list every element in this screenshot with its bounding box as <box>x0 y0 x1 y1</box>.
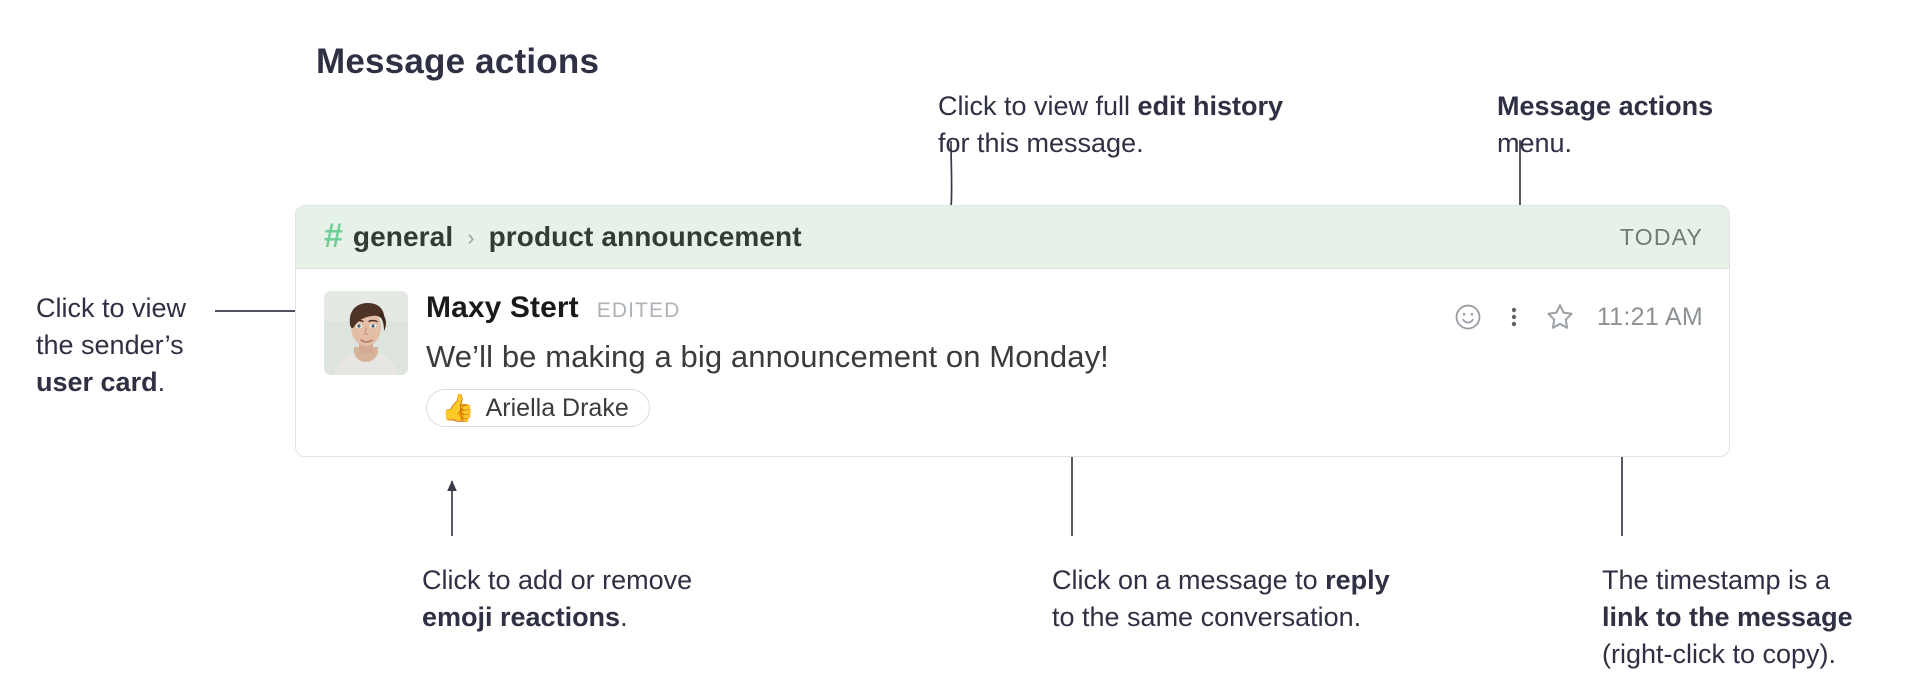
annotation-reply: Click on a message to reply to the same … <box>1052 562 1390 636</box>
topic-name-link[interactable]: product announcement <box>489 221 802 253</box>
annotation-emoji-line2-bold: emoji reactions <box>422 602 620 632</box>
message-controls: 11:21 AM <box>1445 297 1703 337</box>
hash-icon: # <box>324 219 343 253</box>
annotation-actions-menu-line2: menu. <box>1497 125 1713 162</box>
annotation-user-card-line3-bold: user card <box>36 367 158 397</box>
annotation-actions-menu: Message actions menu. <box>1497 88 1713 162</box>
recipient-date-label[interactable]: TODAY <box>1620 224 1703 251</box>
annotation-user-card: Click to view the sender’s user card. <box>36 290 186 401</box>
stream-name-link[interactable]: general <box>353 221 453 253</box>
thumbs-up-emoji: 👍 <box>441 395 475 422</box>
message-body[interactable]: We’ll be making a big announcement on Mo… <box>426 339 1703 375</box>
message-timestamp-link[interactable]: 11:21 AM <box>1597 303 1703 332</box>
annotation-timestamp: The timestamp is a link to the message (… <box>1602 562 1853 673</box>
annotation-edit-history-line2: for this message. <box>938 125 1283 162</box>
annotation-edit-history: Click to view full edit history for this… <box>938 88 1283 162</box>
annotation-timestamp-line2-bold: link to the message <box>1602 602 1853 632</box>
edited-tag[interactable]: EDITED <box>597 299 681 323</box>
annotation-user-card-line2: the sender’s <box>36 327 186 364</box>
message-card: # general › product announcement TODAY <box>295 205 1730 457</box>
recipient-bar[interactable]: # general › product announcement TODAY <box>296 206 1729 269</box>
message-actions-menu-icon[interactable] <box>1491 297 1537 337</box>
chevron-right-icon: › <box>467 225 474 251</box>
reaction-pill[interactable]: 👍 Ariella Drake <box>426 389 650 427</box>
emoji-reaction-icon[interactable] <box>1445 297 1491 337</box>
annotation-edit-history-line1-prefix: Click to view full <box>938 91 1138 121</box>
annotation-timestamp-line3: (right-click to copy). <box>1602 636 1853 673</box>
annotation-reply-line1-bold: reply <box>1325 565 1390 595</box>
star-icon[interactable] <box>1537 297 1583 337</box>
annotation-emoji-line2-suffix: . <box>620 602 628 632</box>
annotation-emoji-reactions: Click to add or remove emoji reactions. <box>422 562 692 636</box>
reactions-list: 👍 Ariella Drake <box>426 389 1703 427</box>
annotation-timestamp-line1: The timestamp is a <box>1602 562 1853 599</box>
reaction-label: Ariella Drake <box>486 394 629 423</box>
sender-name[interactable]: Maxy Stert <box>426 291 579 325</box>
annotation-reply-line1-prefix: Click on a message to <box>1052 565 1325 595</box>
avatar[interactable] <box>324 291 408 375</box>
page-title: Message actions <box>316 42 599 82</box>
annotation-reply-line2: to the same conversation. <box>1052 599 1390 636</box>
annotation-actions-menu-line1-bold: Message actions <box>1497 91 1713 121</box>
annotation-user-card-line1: Click to view <box>36 290 186 327</box>
message-row[interactable]: Maxy Stert EDITED We’ll be making a big … <box>296 269 1729 427</box>
annotation-user-card-line3-suffix: . <box>158 367 166 397</box>
annotation-emoji-line1: Click to add or remove <box>422 562 692 599</box>
annotation-edit-history-line1-bold: edit history <box>1138 91 1284 121</box>
